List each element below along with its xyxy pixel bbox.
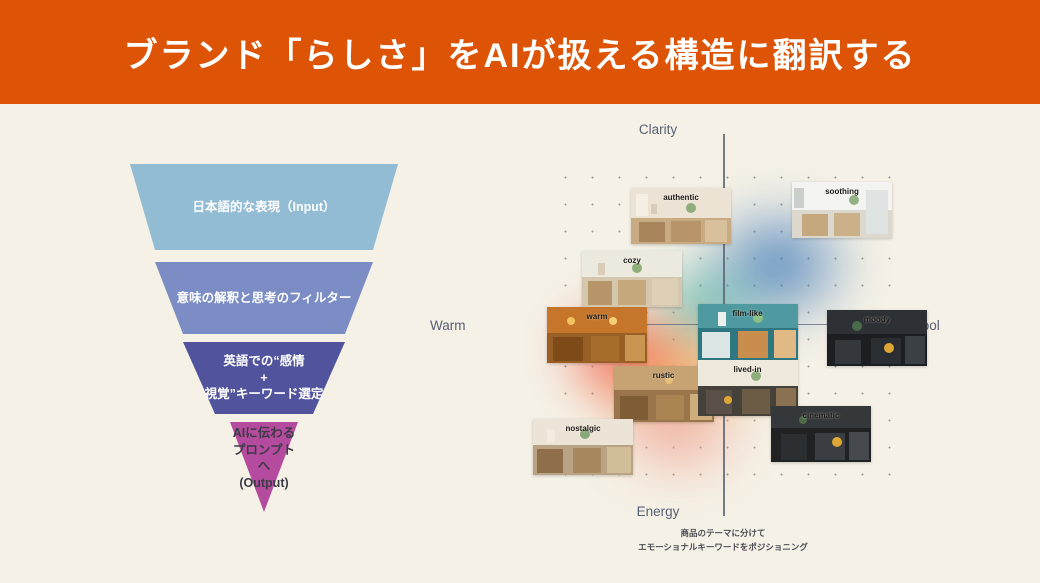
- funnel-stage-label-line2: (Output): [230, 475, 298, 492]
- keyword-label: rustic: [653, 371, 675, 380]
- funnel-stage-label: 英語での“感情 + 視覚”キーワード選定: [183, 353, 345, 403]
- matrix-caption-line1: 商品のテーマに分けて: [548, 526, 898, 540]
- funnel-stage-filter[interactable]: 意味の解釈と思考のフィルター: [155, 262, 373, 334]
- keyword-thumbnail[interactable]: cozy: [582, 251, 682, 307]
- funnel-stage-label-line2: +: [183, 370, 345, 387]
- keyword-thumbnail[interactable]: soothing: [792, 182, 892, 238]
- slide-header: ブランド「らしさ」をAIが扱える構造に翻訳する: [0, 0, 1040, 104]
- matrix-plot-area: authentic soothing: [548, 160, 898, 490]
- funnel-stage-label-line1: 英語での“感情: [183, 353, 345, 370]
- slide-body: 日本語的な表現（Input） 意味の解釈と思考のフィルター 英語での“感情 + …: [0, 104, 1040, 583]
- emotional-keyword-map: Clarity Energy Warm Cool: [488, 122, 958, 562]
- keyword-label: soothing: [825, 187, 859, 196]
- keyword-label: nostalgic: [565, 424, 600, 433]
- keyword-label: cozy: [623, 256, 641, 265]
- axis-label-clarity: Clarity: [639, 122, 677, 137]
- keyword-thumbnail[interactable]: moody: [827, 310, 927, 366]
- funnel-stage-keyword[interactable]: 英語での“感情 + 視覚”キーワード選定: [183, 342, 345, 414]
- keyword-label: cinematic: [803, 411, 840, 420]
- funnel-stage-label-line1: AIに伝わるプロンプトへ: [230, 425, 298, 475]
- keyword-label: authentic: [663, 193, 699, 202]
- translation-funnel: 日本語的な表現（Input） 意味の解釈と思考のフィルター 英語での“感情 + …: [130, 164, 510, 564]
- funnel-stage-input[interactable]: 日本語的な表現（Input）: [130, 164, 398, 250]
- matrix-caption-line2: エモーショナルキーワードをポジショニング: [548, 540, 898, 554]
- funnel-stage-label: 意味の解釈と思考のフィルター: [177, 290, 352, 307]
- funnel-stage-label: 日本語的な表現（Input）: [192, 199, 335, 216]
- funnel-stage-output[interactable]: AIに伝わるプロンプトへ (Output): [230, 422, 298, 512]
- keyword-thumbnail[interactable]: warm: [547, 307, 647, 363]
- axis-label-energy: Energy: [637, 504, 680, 519]
- page-title: ブランド「らしさ」をAIが扱える構造に翻訳する: [124, 28, 917, 77]
- axis-label-warm: Warm: [430, 318, 466, 333]
- keyword-thumbnail[interactable]: film-like: [698, 304, 798, 360]
- keyword-thumbnail[interactable]: authentic: [631, 188, 731, 244]
- keyword-label: warm: [587, 312, 608, 321]
- keyword-thumbnail[interactable]: nostalgic: [533, 419, 633, 475]
- matrix-caption: 商品のテーマに分けて エモーショナルキーワードをポジショニング: [548, 526, 898, 554]
- keyword-label: moody: [864, 315, 890, 324]
- keyword-label: film-like: [732, 309, 762, 318]
- funnel-stage-label-line3: 視覚”キーワード選定: [183, 386, 345, 403]
- funnel-stage-label: AIに伝わるプロンプトへ (Output): [230, 425, 298, 491]
- keyword-thumbnail[interactable]: cinematic: [771, 406, 871, 462]
- keyword-label: lived-in: [733, 365, 761, 374]
